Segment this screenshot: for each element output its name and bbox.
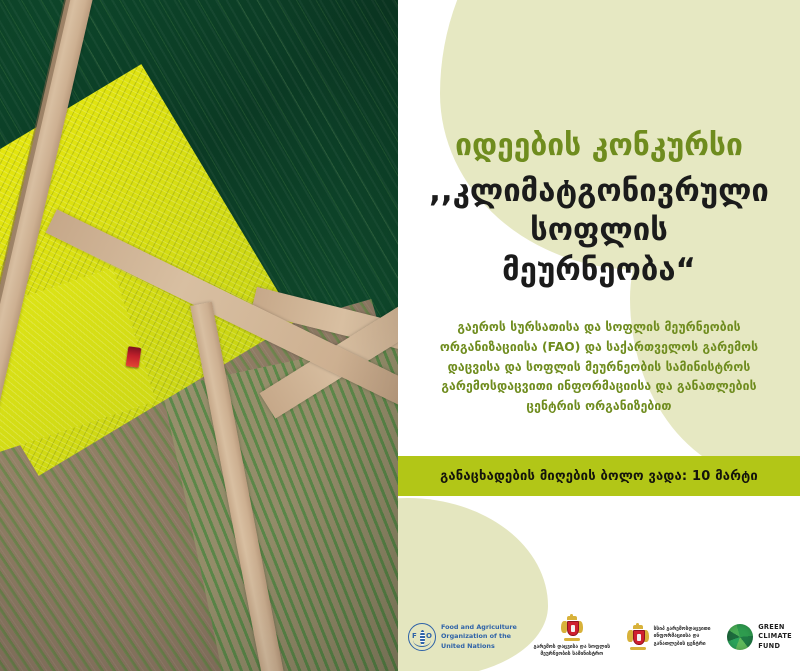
page-title-line2: ,,კლიმატგონივრული სოფლის მეურნეობა“ (398, 172, 800, 290)
logo-strip: FO Food and Agriculture Organization of … (398, 606, 800, 668)
deadline-text: განაცხადების მიღების ბოლო ვადა: 10 მარტი (440, 469, 758, 484)
gcf-logo-text: GREEN CLIMATE FUND (758, 623, 792, 650)
logo-green-climate-fund: GREEN CLIMATE FUND (727, 623, 792, 650)
page-title-line1: იდეების კონკურსი (398, 128, 800, 163)
logo-eiec: სსიპ გარემოსდაცვითი ინფორმაციისა და განა… (627, 625, 711, 650)
ministry-logo-text: გარემოს დაცვისა და სოფლის მეურნეობის სამ… (534, 644, 610, 659)
organizer-description: გაეროს სურსათისა და სოფლის მეურნეობის ორ… (398, 318, 800, 417)
aerial-farmland-photo (0, 0, 398, 671)
eiec-logo-text: სსიპ გარემოსდაცვითი ინფორმაციისა და განა… (654, 626, 711, 648)
fao-emblem-icon: FO (408, 623, 436, 651)
logo-ministry: გარემოს დაცვისა და სოფლის მეურნეობის სამ… (534, 616, 610, 659)
content-panel: იდეების კონკურსი ,,კლიმატგონივრული სოფლი… (398, 0, 800, 671)
poster-root: იდეების კონკურსი ,,კლიმატგონივრული სოფლი… (0, 0, 800, 671)
green-globe-icon (727, 624, 753, 650)
georgia-coat-of-arms-icon (627, 625, 649, 650)
logo-fao: FO Food and Agriculture Organization of … (408, 623, 517, 651)
photo-vignette (0, 0, 398, 671)
georgia-coat-of-arms-icon (561, 616, 583, 641)
deadline-banner: განაცხადების მიღების ბოლო ვადა: 10 მარტი (398, 456, 800, 496)
fao-logo-text: Food and Agriculture Organization of the… (441, 623, 517, 650)
